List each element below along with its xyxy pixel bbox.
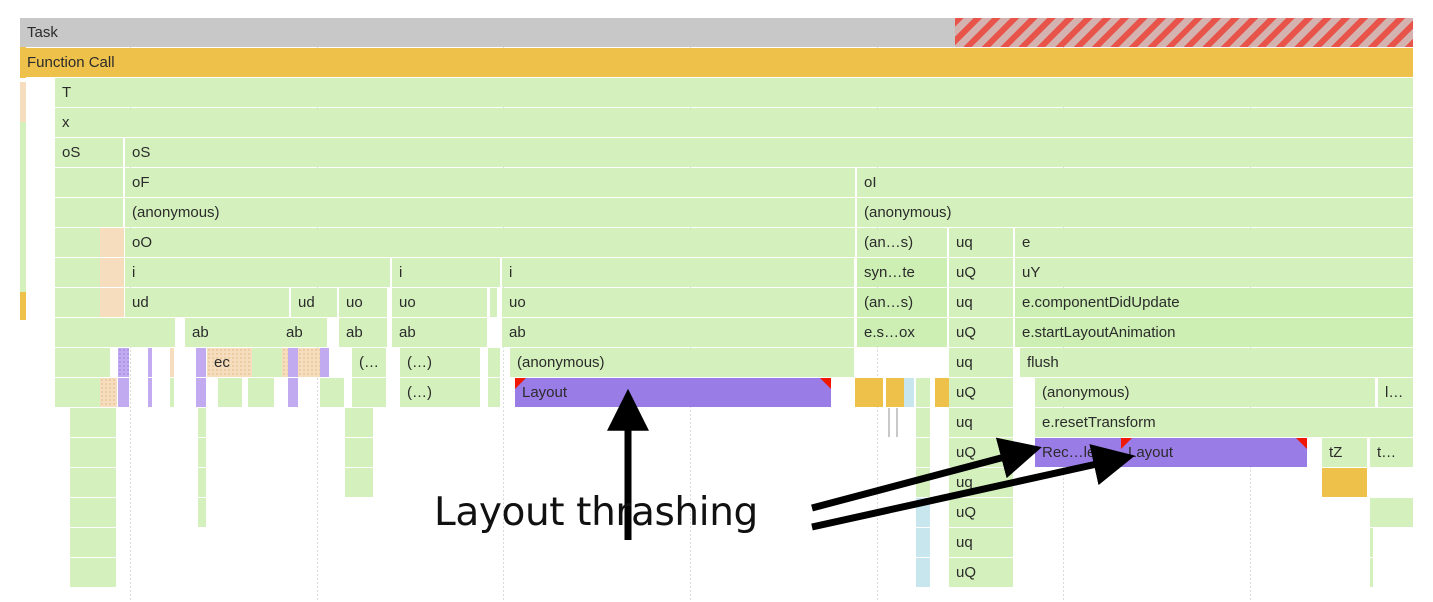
row-uq-1-bar-3[interactable] bbox=[916, 468, 930, 497]
row-ud-uo-bar-7[interactable]: uo bbox=[502, 288, 854, 317]
bar-label: Function Call bbox=[20, 55, 115, 70]
row-uQ-2-bar-0[interactable] bbox=[70, 498, 116, 527]
row-i-1-bar-6[interactable]: uQ bbox=[949, 258, 1013, 287]
bar-label: uQ bbox=[949, 565, 976, 580]
bar-label: ab bbox=[502, 325, 526, 340]
row-layout-1-bar-0[interactable] bbox=[55, 378, 100, 407]
row-resetTransform-bar-1[interactable] bbox=[198, 408, 206, 437]
row-ab-bar-2[interactable]: ab bbox=[279, 318, 327, 347]
row-resetTransform-bar-0[interactable] bbox=[70, 408, 116, 437]
row-ec-bar-5[interactable]: ec bbox=[207, 348, 252, 377]
row-layout-2-bar-1[interactable] bbox=[198, 438, 206, 467]
left-rail-strip-3 bbox=[20, 292, 26, 320]
row-ab-bar-7[interactable]: uQ bbox=[949, 318, 1013, 347]
bar-label: oS bbox=[125, 145, 150, 160]
bar-label: uo bbox=[392, 295, 416, 310]
bar-label: ud bbox=[125, 295, 149, 310]
row-resetTransform-bar-7[interactable]: e.resetTransform bbox=[1035, 408, 1413, 437]
row-ec-bar-8[interactable] bbox=[288, 348, 298, 377]
bar-label: (an…s) bbox=[857, 295, 913, 310]
bar-label: uY bbox=[1015, 265, 1040, 280]
bar-label: uq bbox=[949, 355, 973, 370]
row-x-bar-0[interactable]: x bbox=[55, 108, 1413, 137]
row-uQ-2-bar-4[interactable] bbox=[1370, 498, 1413, 527]
annotation-label: Layout thrashing bbox=[434, 493, 758, 532]
bar-label: uq bbox=[949, 535, 973, 550]
bar-label: e.resetTransform bbox=[1035, 415, 1156, 430]
row-ec-bar-4[interactable] bbox=[196, 348, 206, 377]
bar-label: oI bbox=[857, 175, 877, 190]
bar-label: uq bbox=[949, 415, 973, 430]
bar-label: ec bbox=[207, 355, 230, 370]
bar-label: uq bbox=[949, 295, 973, 310]
bar-label: ab bbox=[392, 325, 416, 340]
row-layout-1-bar-10[interactable] bbox=[352, 378, 386, 407]
row-i-1-bar-2[interactable]: i bbox=[125, 258, 390, 287]
bar-label: (…) bbox=[400, 355, 432, 370]
bar-label: x bbox=[55, 115, 70, 130]
row-ec-bar-13[interactable] bbox=[488, 348, 500, 377]
row-layout-1-bar-16[interactable] bbox=[904, 378, 914, 407]
row-ab-bar-1[interactable]: ab bbox=[185, 318, 289, 347]
row-anonymous-1-bar-2[interactable]: (anonymous) bbox=[857, 198, 1413, 227]
row-uq-1-bar-0[interactable] bbox=[70, 468, 116, 497]
row-ec-bar-16[interactable]: flush bbox=[1020, 348, 1413, 377]
row-resetTransform-bar-2[interactable] bbox=[345, 408, 373, 437]
row-ec-bar-6[interactable] bbox=[252, 348, 282, 377]
row-ec-bar-11[interactable]: (… bbox=[352, 348, 386, 377]
row-ec-bar-0[interactable] bbox=[55, 348, 110, 377]
row-layout-2-bar-3[interactable] bbox=[916, 438, 930, 467]
bar-label: uQ bbox=[949, 505, 976, 520]
row-ud-uo-bar-2[interactable]: ud bbox=[125, 288, 289, 317]
bar-label: uQ bbox=[949, 265, 976, 280]
row-layout-1-bar-8[interactable] bbox=[288, 378, 298, 407]
function-call-row-bar-0[interactable]: Function Call bbox=[20, 48, 1413, 77]
warning-triangle-icon bbox=[820, 378, 831, 389]
row-i-1-bar-4[interactable]: i bbox=[502, 258, 854, 287]
layout-bar-2[interactable]: Layout bbox=[1121, 438, 1307, 467]
bar-label: uo bbox=[502, 295, 526, 310]
row-uQ-2-bar-3[interactable]: uQ bbox=[949, 498, 1013, 527]
row-oS-bar-1[interactable]: oS bbox=[125, 138, 1413, 167]
bar-label: ab bbox=[185, 325, 209, 340]
row-i-1-bar-1[interactable] bbox=[100, 258, 124, 287]
left-rail-strip-2 bbox=[20, 122, 26, 292]
row-layout-2-bar-7[interactable]: tZ bbox=[1322, 438, 1367, 467]
bar-label: (… bbox=[352, 355, 379, 370]
warning-triangle-icon bbox=[1296, 438, 1307, 449]
bar-label: syn…te bbox=[857, 265, 915, 280]
row-i-1-bar-5[interactable]: syn…te bbox=[857, 258, 947, 287]
row-ec-bar-1[interactable] bbox=[118, 348, 129, 377]
bar-label: i bbox=[502, 265, 512, 280]
bar-label: tZ bbox=[1322, 445, 1342, 460]
row-uq-1-bar-1[interactable] bbox=[198, 468, 206, 497]
row-oF-bar-1[interactable]: oF bbox=[125, 168, 855, 197]
row-layout-1-bar-5[interactable] bbox=[196, 378, 206, 407]
warning-triangle-icon bbox=[1121, 438, 1132, 449]
bar-label: (anonymous) bbox=[1035, 385, 1130, 400]
row-ab-bar-5[interactable]: ab bbox=[502, 318, 854, 347]
row-i-1-bar-3[interactable]: i bbox=[392, 258, 500, 287]
bar-label: ab bbox=[279, 325, 303, 340]
row-uq-1-bar-4[interactable]: uq bbox=[949, 468, 1013, 497]
row-resetTransform-bar-4[interactable] bbox=[896, 408, 898, 437]
row-layout-1-bar-20[interactable]: (anonymous) bbox=[1035, 378, 1375, 407]
bar-label: i bbox=[125, 265, 135, 280]
row-ec-bar-14[interactable]: (anonymous) bbox=[510, 348, 854, 377]
bar-label: i bbox=[392, 265, 402, 280]
row-oO-bar-4[interactable]: uq bbox=[949, 228, 1013, 257]
row-ud-uo-bar-4[interactable]: uo bbox=[339, 288, 387, 317]
row-uQ-4-bar-3[interactable] bbox=[1370, 558, 1373, 587]
row-layout-1-bar-3[interactable] bbox=[148, 378, 152, 407]
row-uQ-4-bar-2[interactable]: uQ bbox=[949, 558, 1013, 587]
row-ec-bar-9[interactable] bbox=[298, 348, 320, 377]
row-uq-3-bar-1[interactable] bbox=[916, 528, 930, 557]
row-ud-uo-bar-9[interactable]: uq bbox=[949, 288, 1013, 317]
warning-triangle-icon bbox=[515, 378, 526, 389]
bar-label: l… bbox=[1378, 385, 1403, 400]
row-resetTransform-bar-6[interactable]: uq bbox=[949, 408, 1013, 437]
row-layout-1-bar-4[interactable] bbox=[170, 378, 174, 407]
bar-label: e.startLayoutAnimation bbox=[1015, 325, 1175, 340]
row-ud-uo-bar-1[interactable] bbox=[100, 288, 124, 317]
row-layout-2-bar-4[interactable]: uQ bbox=[949, 438, 1013, 467]
bar-label: Task bbox=[20, 25, 58, 40]
row-ec-bar-10[interactable] bbox=[320, 348, 329, 377]
row-ec-bar-12[interactable]: (…) bbox=[400, 348, 480, 377]
row-ab-bar-6[interactable]: e.s…ox bbox=[857, 318, 947, 347]
row-ab-bar-3[interactable]: ab bbox=[339, 318, 387, 347]
row-layout-2-bar-0[interactable] bbox=[70, 438, 116, 467]
row-ab-bar-4[interactable]: ab bbox=[392, 318, 487, 347]
bar-label: flush bbox=[1020, 355, 1059, 370]
row-layout-1-bar-11[interactable]: (…) bbox=[400, 378, 480, 407]
row-uQ-4-bar-1[interactable] bbox=[916, 558, 930, 587]
row-layout-1-bar-19[interactable]: uQ bbox=[949, 378, 1013, 407]
bar-label: e.s…ox bbox=[857, 325, 915, 340]
row-oO-bar-3[interactable]: (an…s) bbox=[857, 228, 947, 257]
bar-label: uo bbox=[339, 295, 363, 310]
row-ec-bar-3[interactable] bbox=[170, 348, 174, 377]
row-resetTransform-bar-5[interactable] bbox=[916, 408, 930, 437]
bar-label: (…) bbox=[400, 385, 432, 400]
row-uq-1-bar-5[interactable] bbox=[1322, 468, 1367, 497]
row-ab-bar-0[interactable] bbox=[55, 318, 175, 347]
row-layout-1-bar-14[interactable] bbox=[855, 378, 883, 407]
bar-label: uq bbox=[949, 235, 973, 250]
row-uQ-2-bar-1[interactable] bbox=[198, 498, 206, 527]
row-anonymous-1-bar-1[interactable]: (anonymous) bbox=[125, 198, 855, 227]
bar-label: ab bbox=[339, 325, 363, 340]
bar-label: (anonymous) bbox=[125, 205, 220, 220]
bar-label: (anonymous) bbox=[510, 355, 605, 370]
bar-label: e.componentDidUpdate bbox=[1015, 295, 1180, 310]
row-layout-1-bar-7[interactable] bbox=[248, 378, 274, 407]
row-oO-bar-0[interactable] bbox=[55, 228, 100, 257]
row-oO-bar-1[interactable] bbox=[100, 228, 124, 257]
bar-label: uQ bbox=[949, 445, 976, 460]
row-uq-3-bar-3[interactable] bbox=[1370, 528, 1373, 557]
row-ud-uo-bar-10[interactable]: e.componentDidUpdate bbox=[1015, 288, 1413, 317]
row-oS-bar-0[interactable]: oS bbox=[55, 138, 123, 167]
row-layout-1-bar-6[interactable] bbox=[218, 378, 242, 407]
layout-bar-1[interactable]: Layout bbox=[515, 378, 831, 407]
bar-label: e bbox=[1015, 235, 1030, 250]
row-i-1-bar-7[interactable]: uY bbox=[1015, 258, 1413, 287]
bar-label: oF bbox=[125, 175, 150, 190]
row-i-1-bar-0[interactable] bbox=[55, 258, 100, 287]
recalculate-style-bar[interactable]: Rec…le bbox=[1035, 438, 1121, 467]
row-ec-bar-15[interactable]: uq bbox=[949, 348, 1013, 377]
row-ud-uo-bar-5[interactable]: uo bbox=[392, 288, 487, 317]
bar-label: (an…s) bbox=[857, 235, 913, 250]
row-oO-bar-2[interactable]: oO bbox=[125, 228, 855, 257]
bar-label: oS bbox=[55, 145, 80, 160]
row-T-bar-0[interactable]: T bbox=[55, 78, 1413, 107]
row-resetTransform-bar-3[interactable] bbox=[888, 408, 890, 437]
row-layout-1-bar-1[interactable] bbox=[100, 378, 117, 407]
bar-label: uQ bbox=[949, 385, 976, 400]
bar-label: Rec…le bbox=[1035, 445, 1095, 460]
row-ud-uo-bar-3[interactable]: ud bbox=[291, 288, 337, 317]
bar-label: t… bbox=[1370, 445, 1396, 460]
bar-label: oO bbox=[125, 235, 152, 250]
row-uq-3-bar-2[interactable]: uq bbox=[949, 528, 1013, 557]
bar-label: ud bbox=[291, 295, 315, 310]
row-layout-1-bar-2[interactable] bbox=[118, 378, 129, 407]
row-uQ-2-bar-2[interactable] bbox=[916, 498, 930, 527]
bar-label: uQ bbox=[949, 325, 976, 340]
long-task-warning-overlay[interactable] bbox=[955, 18, 1413, 47]
row-layout-1-bar-9[interactable] bbox=[320, 378, 344, 407]
bar-label: T bbox=[55, 85, 71, 100]
row-ec-bar-2[interactable] bbox=[148, 348, 152, 377]
row-layout-1-bar-17[interactable] bbox=[916, 378, 930, 407]
row-uQ-4-bar-0[interactable] bbox=[70, 558, 116, 587]
bar-label: uq bbox=[949, 475, 973, 490]
row-layout-1-bar-15[interactable] bbox=[886, 378, 904, 407]
row-anonymous-1-bar-0[interactable] bbox=[55, 198, 123, 227]
row-ud-uo-bar-0[interactable] bbox=[55, 288, 100, 317]
row-layout-1-bar-21[interactable]: l… bbox=[1378, 378, 1413, 407]
row-layout-2-bar-8[interactable]: t… bbox=[1370, 438, 1413, 467]
row-uq-1-bar-2[interactable] bbox=[345, 468, 373, 497]
bar-label: (anonymous) bbox=[857, 205, 952, 220]
row-ab-bar-8[interactable]: e.startLayoutAnimation bbox=[1015, 318, 1413, 347]
row-ud-uo-bar-6[interactable] bbox=[490, 288, 497, 317]
row-oF-bar-0[interactable] bbox=[55, 168, 123, 197]
row-layout-1-bar-12[interactable] bbox=[488, 378, 500, 407]
left-rail-strip-1 bbox=[20, 82, 26, 122]
row-ud-uo-bar-8[interactable]: (an…s) bbox=[857, 288, 947, 317]
row-layout-2-bar-2[interactable] bbox=[345, 438, 373, 467]
row-oO-bar-5[interactable]: e bbox=[1015, 228, 1413, 257]
row-oF-bar-2[interactable]: oI bbox=[857, 168, 1413, 197]
row-uq-3-bar-0[interactable] bbox=[70, 528, 116, 557]
